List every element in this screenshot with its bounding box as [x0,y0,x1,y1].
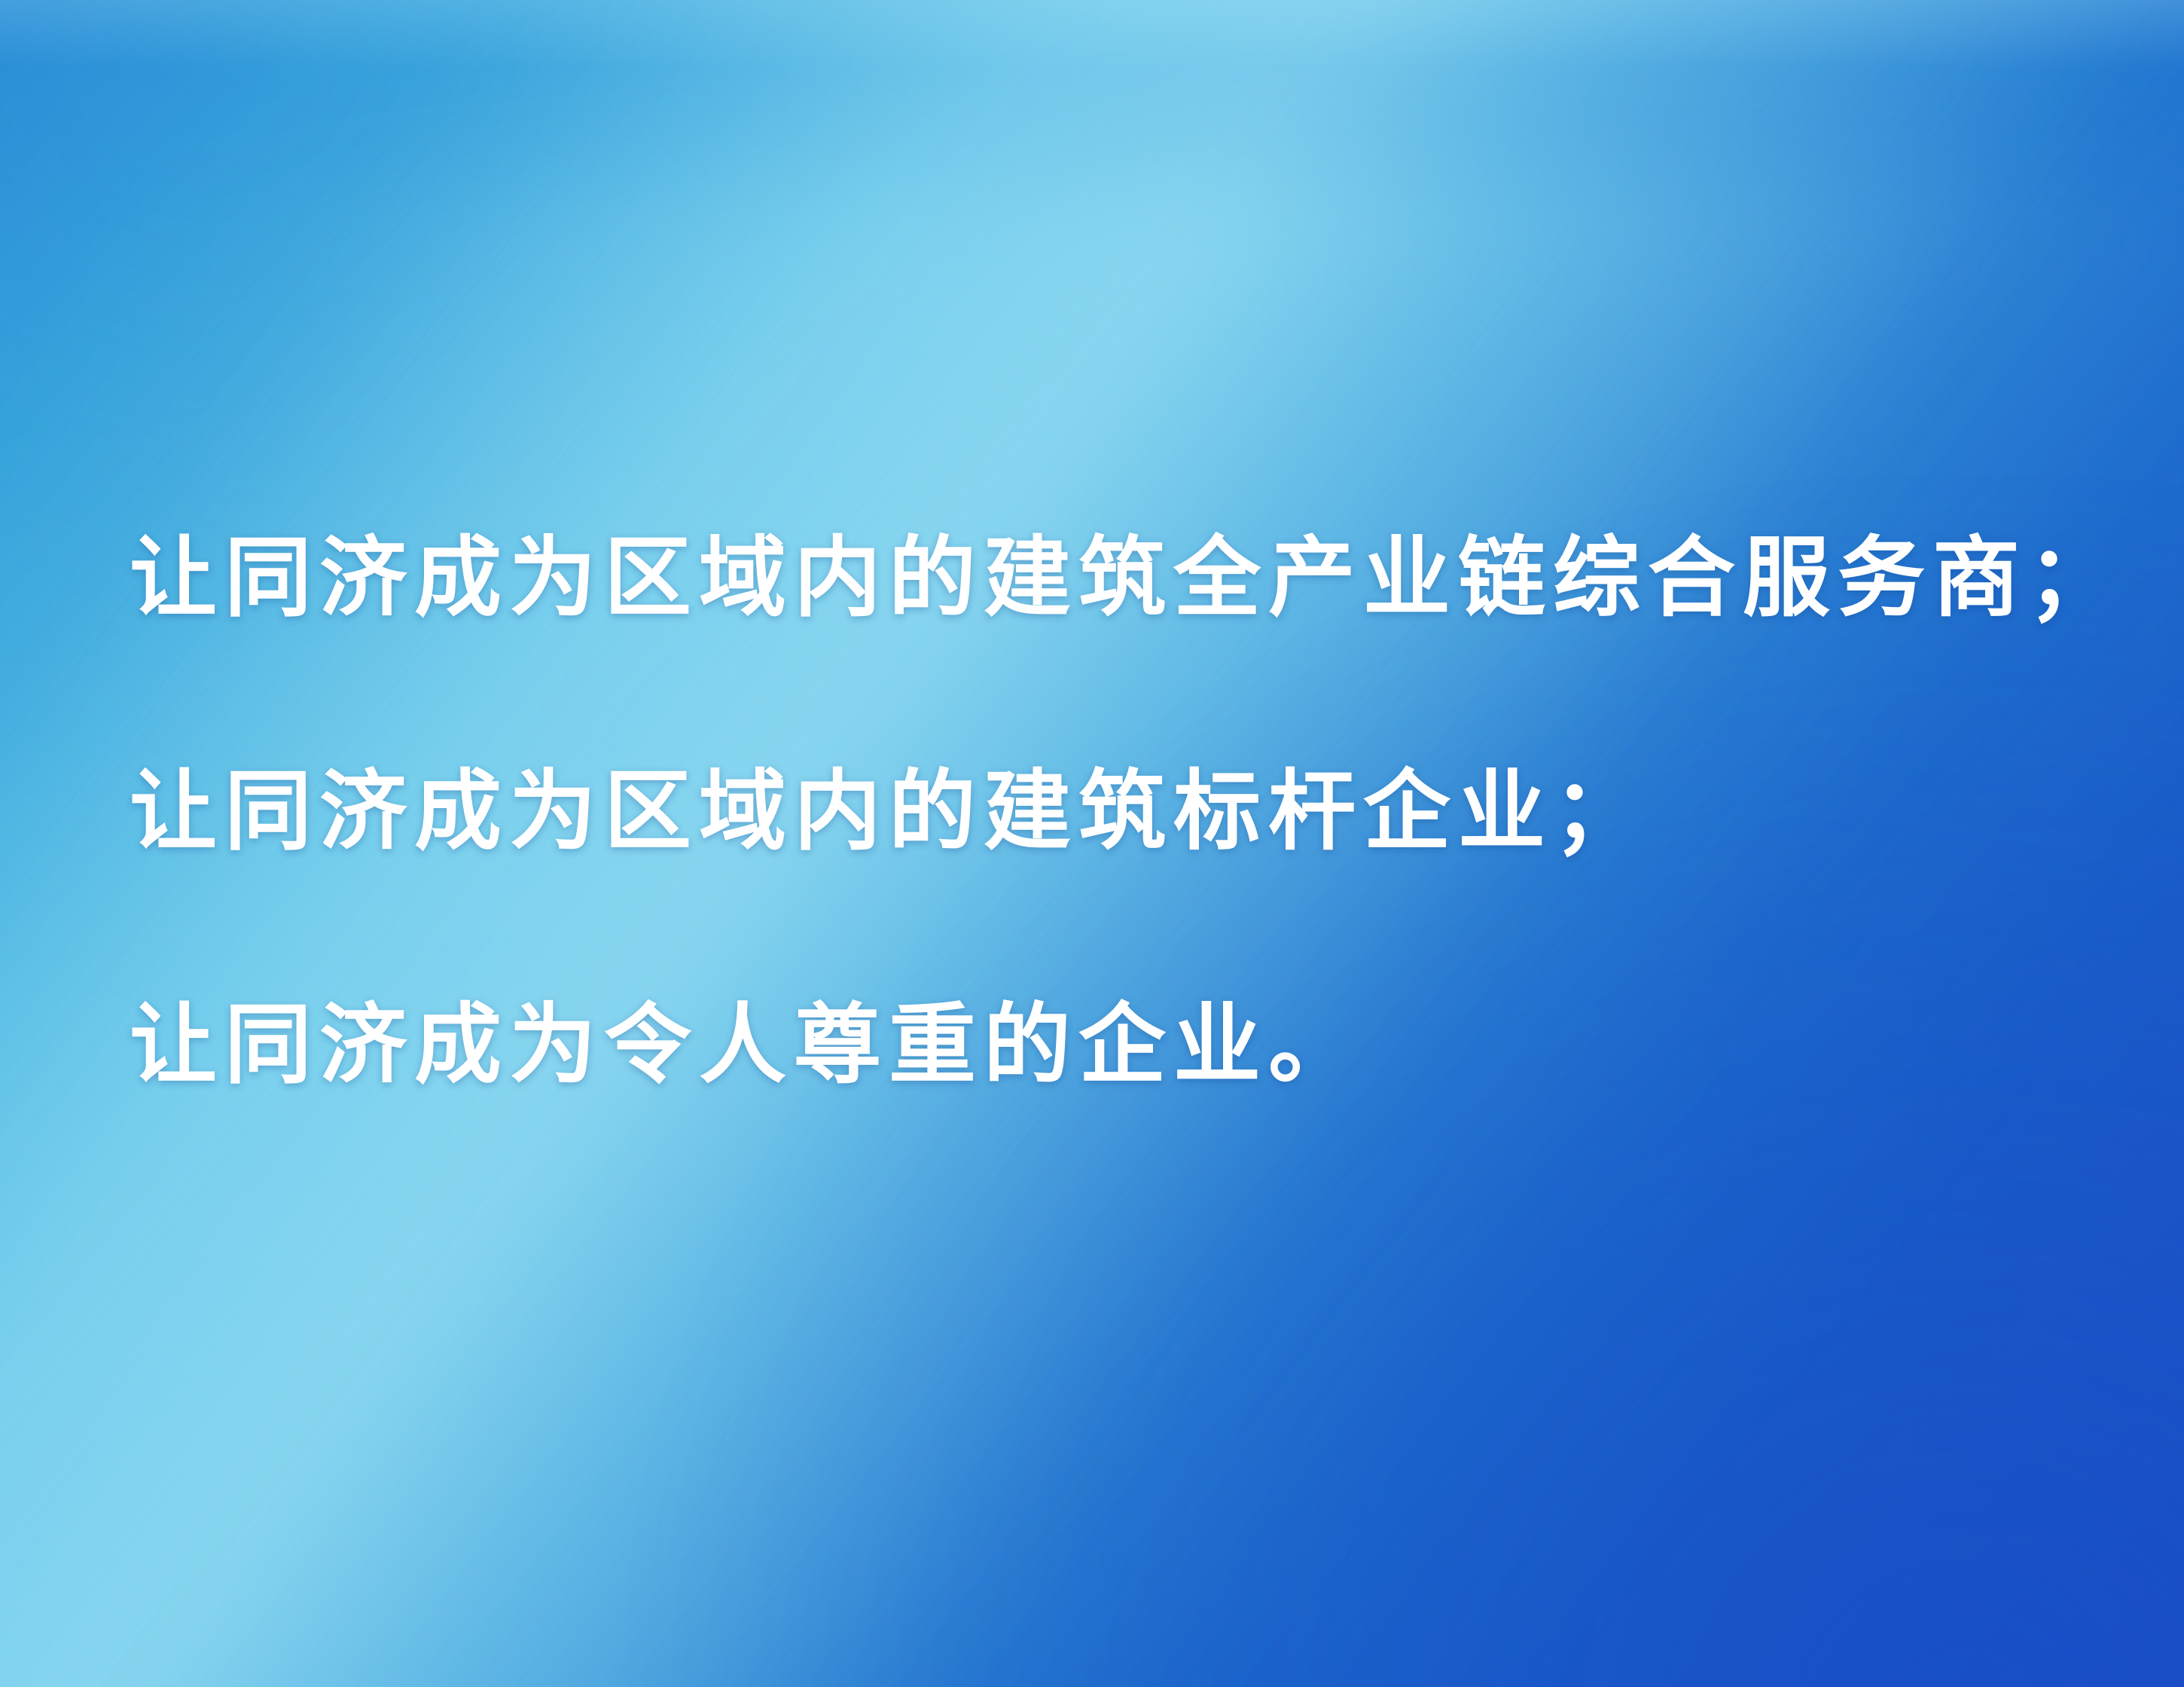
slide-line-2: 让同济成为区域内的建筑标杆企业； [130,694,2057,928]
slide-line-1: 让同济成为区域内的建筑全产业链综合服务商； [130,461,2057,694]
slide-text-block: 让同济成为区域内的建筑全产业链综合服务商； 让同济成为区域内的建筑标杆企业； 让… [130,461,2057,1161]
slide-line-3: 让同济成为令人尊重的企业。 [130,928,2057,1161]
presentation-slide: 让同济成为区域内的建筑全产业链综合服务商； 让同济成为区域内的建筑标杆企业； 让… [0,0,2184,1687]
background-top-edge-highlight [0,0,2184,68]
